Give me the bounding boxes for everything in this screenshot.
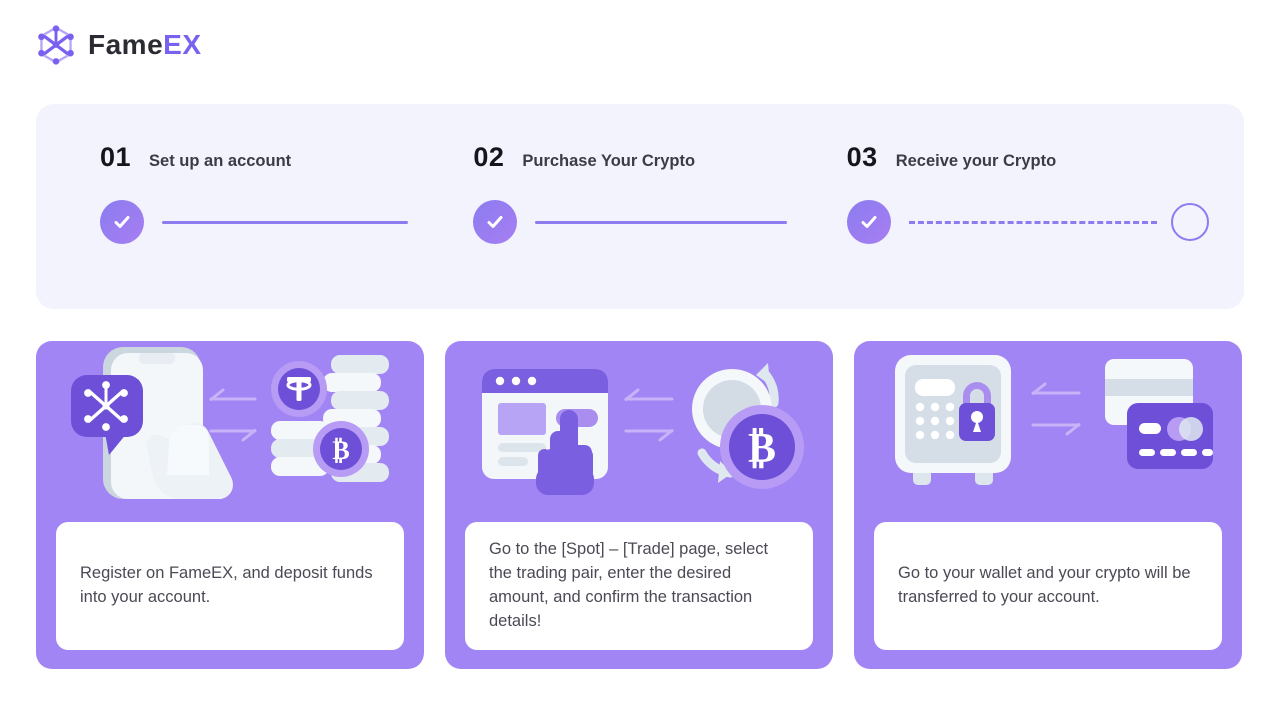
step-track [847, 200, 1220, 244]
safe-vault-credit-cards-illustration [854, 341, 1242, 516]
card-text-2: Go to the [Spot] – [Trade] page, select … [489, 538, 789, 634]
step-item-01[interactable]: 01 Set up an account [100, 144, 473, 244]
step-header: 01 Set up an account [100, 144, 473, 178]
step-track [100, 200, 473, 244]
steps-cards-row: ₿ Register on FameEX, and deposit funds … [36, 341, 1244, 669]
card-caption-2: Go to the [Spot] – [Trade] page, select … [465, 522, 813, 650]
brand-name-ex: EX [163, 29, 201, 60]
svg-text:₿: ₿ [332, 436, 349, 465]
step-card-2[interactable]: ₿ Go to the [Spot] – [Trade] page, selec… [445, 341, 833, 669]
check-icon [847, 200, 891, 244]
step-number: 01 [100, 144, 131, 171]
steps-row: 01 Set up an account 02 Purchase Your Cr… [100, 144, 1220, 244]
step-number: 03 [847, 144, 878, 171]
step-label: Receive your Crypto [896, 153, 1056, 170]
card-caption-1: Register on FameEX, and deposit funds in… [56, 522, 404, 650]
step-item-02[interactable]: 02 Purchase Your Crypto [473, 144, 846, 244]
fameex-logo-icon [36, 24, 76, 66]
card-caption-3: Go to your wallet and your crypto will b… [874, 522, 1222, 650]
card-text-3: Go to your wallet and your crypto will b… [898, 562, 1198, 610]
check-icon [100, 200, 144, 244]
brand-name-fame: Fame [88, 29, 163, 60]
progress-steps-panel: 01 Set up an account 02 Purchase Your Cr… [36, 104, 1244, 309]
step-header: 03 Receive your Crypto [847, 144, 1220, 178]
step-item-03[interactable]: 03 Receive your Crypto [847, 144, 1220, 244]
step-label: Purchase Your Crypto [522, 153, 695, 170]
step-connector-dashed [909, 221, 1157, 224]
card-text-1: Register on FameEX, and deposit funds in… [80, 562, 380, 610]
step-connector-solid [535, 221, 787, 224]
brand-header: FameEX [36, 24, 202, 66]
step-connector-solid [162, 221, 408, 224]
brand-wordmark: FameEX [88, 31, 202, 59]
step-header: 02 Purchase Your Crypto [473, 144, 846, 178]
step-end-empty-circle [1171, 203, 1209, 241]
step-card-3[interactable]: Go to your wallet and your crypto will b… [854, 341, 1242, 669]
step-label: Set up an account [149, 153, 291, 170]
browser-window-cursor-bitcoin-swap-illustration: ₿ [445, 341, 833, 516]
step-number: 02 [473, 144, 504, 171]
step-track [473, 200, 846, 244]
step-card-1[interactable]: ₿ Register on FameEX, and deposit funds … [36, 341, 424, 669]
svg-text:₿: ₿ [748, 426, 776, 472]
check-icon [473, 200, 517, 244]
phone-hand-chat-bubble-coins-illustration: ₿ [36, 341, 424, 516]
